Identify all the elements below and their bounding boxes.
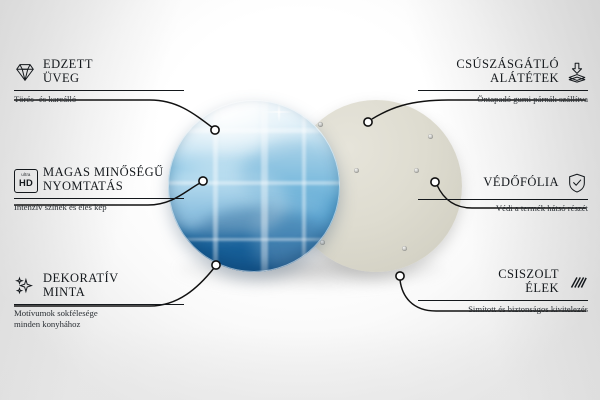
feature-subtitle: Motívumok sokfélesége [14,308,184,318]
feature-csiszolt-elek: CSISZOLT ÉLEK Simított és biztonságos ki… [418,268,588,315]
infographic-canvas: EDZETT ÜVEG Törés- és karcálló ultra HD … [0,0,600,400]
feature-csuszasgatlo-alatetek: CSÚSZÁSGÁTLÓ ALÁTÉTEK Öntapadó gumi párn… [418,58,588,105]
ultra-hd-big-label: HD [19,178,33,187]
divider [418,199,588,200]
download-layers-icon [566,61,588,83]
connector-dot-alatetek [364,118,372,126]
connector-dot-nyomtatas [199,177,207,185]
feature-title-2: ÉLEK [498,282,559,296]
feature-title-2: ALÁTÉTEK [456,72,559,86]
divider [14,90,184,91]
divider [14,304,184,305]
divider [418,90,588,91]
feature-subtitle: Simított és biztonságos kivitelezés [418,304,588,314]
feature-title: CSÚSZÁSGÁTLÓ [456,58,559,72]
feature-subtitle: Védi a termék hátsó részét [418,203,588,213]
ultra-hd-badge-icon: ultra HD [14,169,36,191]
divider [14,198,184,199]
feature-subtitle-2: minden konyhához [14,319,184,329]
feature-subtitle: Törés- és karcálló [14,94,184,104]
feature-dekorativ-minta: DEKORATÍV MINTA Motívumok sokfélesége mi… [14,272,184,329]
diamond-icon [14,61,36,83]
feature-subtitle: Öntapadó gumi párnák szállítva [418,94,588,104]
feature-title: CSISZOLT [498,268,559,282]
feature-magas-minosegu-nyomtatas: ultra HD MAGAS MINŐSÉGŰ NYOMTATÁS Intenz… [14,166,184,213]
feature-title-2: NYOMTATÁS [43,180,164,194]
connector-dot-dekorativ-minta [212,261,220,269]
polished-edges-icon [566,271,588,293]
connector-dot-edzett-uveg [211,126,219,134]
feature-subtitle: Intenzív színek és éles kép [14,202,184,212]
feature-title: EDZETT [43,58,93,72]
feature-title-2: MINTA [43,286,119,300]
feature-title: MAGAS MINŐSÉGŰ [43,166,164,180]
shield-check-icon [566,172,588,194]
feature-edzett-uveg: EDZETT ÜVEG Törés- és karcálló [14,58,184,105]
sparkles-icon [14,275,36,297]
feature-vedofolia: VÉDŐFÓLIA Védi a termék hátsó részét [418,172,588,214]
divider [418,300,588,301]
connector-dot-csiszolt-elek [396,272,404,280]
feature-title-2: ÜVEG [43,72,93,86]
feature-title: VÉDŐFÓLIA [483,176,559,190]
feature-title: DEKORATÍV [43,272,119,286]
